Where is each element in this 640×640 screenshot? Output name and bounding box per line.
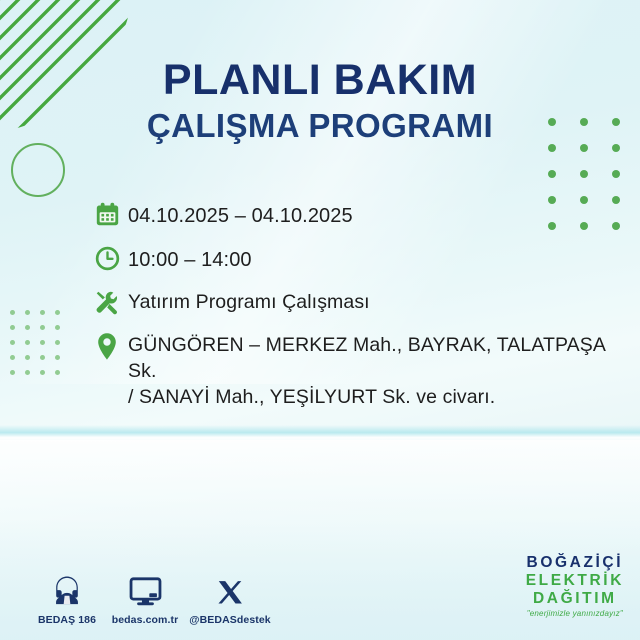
calendar-icon — [86, 200, 128, 228]
logo-tagline: "enerjimizle yanınızdayız" — [526, 609, 624, 618]
bedas-logo: BOĞAZİÇİ ELEKTRİK DAĞITIM "enerjimizle y… — [526, 554, 624, 618]
contact-x-account[interactable]: @BEDASdestek — [184, 569, 276, 626]
footer: BEDAŞ 186 bedas.com.tr — [0, 550, 640, 632]
contact-label: BEDAŞ 186 — [28, 614, 106, 626]
contact-call-center[interactable]: BEDAŞ 186 — [28, 569, 106, 626]
location-line-2: / SANAYİ Mah., YEŞİLYURT Sk. ve civarı. — [128, 386, 495, 408]
maintenance-date-range: 04.10.2025 – 04.10.2025 — [128, 200, 353, 230]
location-pin-icon — [86, 330, 128, 362]
contact-website[interactable]: bedas.com.tr — [106, 569, 184, 626]
monitor-website-icon — [106, 569, 184, 607]
location-line-1: GÜNGÖREN – MERKEZ Mah., BAYRAK, TALATPAŞ… — [128, 334, 605, 382]
tools-icon — [86, 287, 128, 316]
x-twitter-icon — [184, 569, 276, 607]
clock-icon — [86, 244, 128, 272]
contact-list: BEDAŞ 186 bedas.com.tr — [28, 569, 276, 626]
maintenance-work-type: Yatırım Programı Çalışması — [128, 287, 370, 316]
maintenance-time-range: 10:00 – 14:00 — [128, 244, 252, 274]
page-subtitle: ÇALIŞMA PROGRAMI — [0, 107, 640, 145]
logo-line-dagitim: DAĞITIM — [526, 590, 624, 608]
maintenance-location: GÜNGÖREN – MERKEZ Mah., BAYRAK, TALATPAŞ… — [128, 330, 626, 411]
detail-row-date: 04.10.2025 – 04.10.2025 — [86, 200, 626, 230]
logo-line-elektrik: ELEKTRİK — [526, 572, 624, 590]
detail-row-location: GÜNGÖREN – MERKEZ Mah., BAYRAK, TALATPAŞ… — [86, 330, 626, 411]
planned-maintenance-poster: PLANLI BAKIM ÇALIŞMA PROGRAMI — [0, 0, 640, 640]
detail-row-time: 10:00 – 14:00 — [86, 244, 626, 274]
maintenance-details: 04.10.2025 – 04.10.2025 10:00 – 14:00 — [86, 200, 626, 411]
poster-title-block: PLANLI BAKIM ÇALIŞMA PROGRAMI — [0, 58, 640, 145]
logo-line-bogazici: BOĞAZİÇİ — [526, 554, 624, 572]
detail-row-work-type: Yatırım Programı Çalışması — [86, 287, 626, 316]
contact-label: bedas.com.tr — [106, 614, 184, 626]
headset-support-icon — [28, 569, 106, 607]
contact-label: @BEDASdestek — [184, 614, 276, 626]
circle-outline-decoration — [11, 143, 65, 197]
page-title: PLANLI BAKIM — [0, 58, 640, 104]
